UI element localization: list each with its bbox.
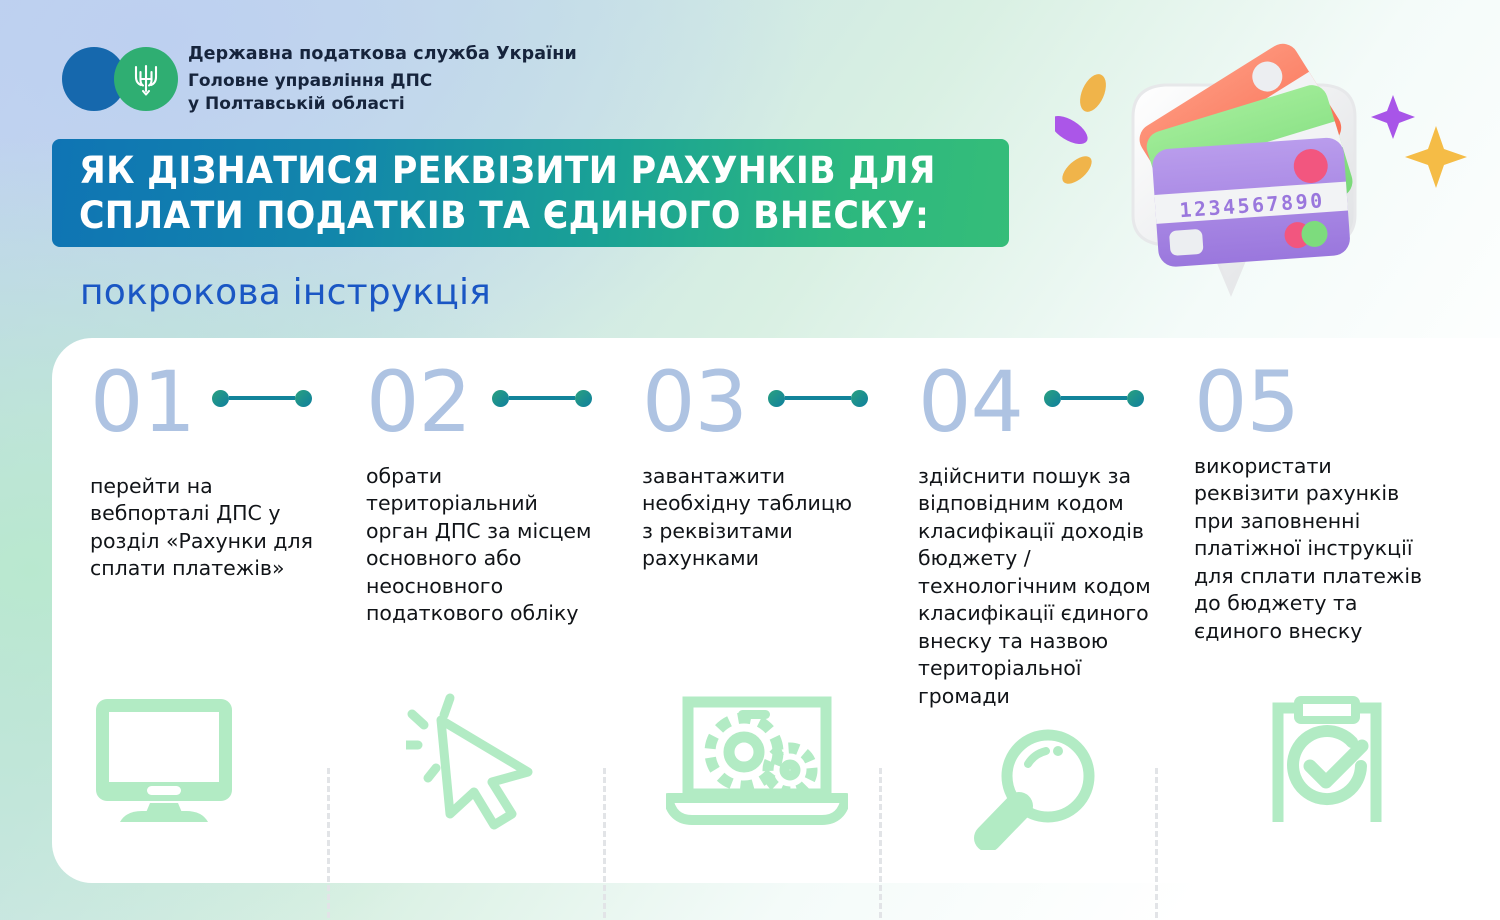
step-text-3: завантажити необхідну таблицю з реквізит… — [642, 463, 862, 573]
org-title-line3: у Полтавській області — [188, 93, 577, 116]
title-line-2: СПЛАТИ ПОДАТКІВ ТА ЄДИНОГО ВНЕСКУ: — [79, 193, 953, 238]
step-text-5: використати реквізити рахунків при запов… — [1194, 453, 1439, 645]
step-icon-1 — [90, 693, 238, 823]
ukraine-trident-icon — [131, 60, 161, 98]
step-number-1: 01 — [90, 360, 195, 444]
infographic-root: Державна податкова служба України Головн… — [0, 0, 1500, 920]
credit-cards-speech-bubble-illustration: 1234567890 — [1055, 25, 1475, 315]
step-4: 04 здійснити пошук за відповідним кодом … — [880, 338, 1156, 883]
step-number-4: 04 — [918, 360, 1023, 444]
title-line-1: ЯК ДІЗНАТИСЯ РЕКВІЗИТИ РАХУНКІВ ДЛЯ — [79, 148, 953, 193]
illustration-svg: 1234567890 — [1055, 25, 1475, 315]
card-purple: 1234567890 — [1151, 137, 1351, 268]
logo — [62, 43, 178, 115]
magnifier-icon — [972, 728, 1102, 850]
step-3: 03 завантажити необхідну таблицю з рекві… — [604, 338, 880, 883]
steps-container: 01 перейти на вебпорталі ДПС у розділ «Р… — [52, 338, 1500, 883]
subtitle: покрокова інструкція — [80, 272, 491, 313]
step-number-3: 03 — [642, 360, 747, 444]
cursor-click-icon — [406, 690, 558, 830]
clipboard-check-icon — [1256, 690, 1398, 830]
step-icon-4 — [972, 728, 1102, 850]
org-title-line1: Державна податкова служба України — [188, 43, 577, 66]
step-text-2: обрати територіальний орган ДПС за місце… — [366, 463, 606, 628]
step-number-2: 02 — [366, 360, 471, 444]
step-icon-3 — [666, 690, 848, 826]
org-header: Державна податкова служба України Головн… — [62, 43, 577, 115]
step-icon-2 — [406, 690, 558, 830]
step-1: 01 перейти на вебпорталі ДПС у розділ «Р… — [52, 338, 328, 883]
spark-decorations — [1055, 70, 1111, 188]
org-text-block: Державна податкова служба України Головн… — [188, 43, 577, 115]
laptop-gears-icon — [666, 690, 848, 826]
step-number-5: 05 — [1194, 360, 1299, 444]
step-text-1: перейти на вебпорталі ДПС у розділ «Раху… — [90, 473, 315, 583]
step-text-4: здійснити пошук за відповідним кодом кла… — [918, 463, 1160, 710]
sparkle-yellow-icon — [1405, 126, 1467, 188]
sparkle-purple-icon — [1371, 95, 1415, 139]
step-icon-5 — [1256, 690, 1398, 830]
logo-green-circle — [114, 47, 178, 111]
monitor-icon — [90, 693, 238, 823]
step-2: 02 обрати територіальний орган ДПС за мі… — [328, 338, 604, 883]
title-banner: ЯК ДІЗНАТИСЯ РЕКВІЗИТИ РАХУНКІВ ДЛЯ СПЛА… — [52, 139, 1009, 247]
org-title-line2: Головне управління ДПС — [188, 70, 577, 93]
step-5: 05 використати реквізити рахунків при за… — [1156, 338, 1500, 883]
